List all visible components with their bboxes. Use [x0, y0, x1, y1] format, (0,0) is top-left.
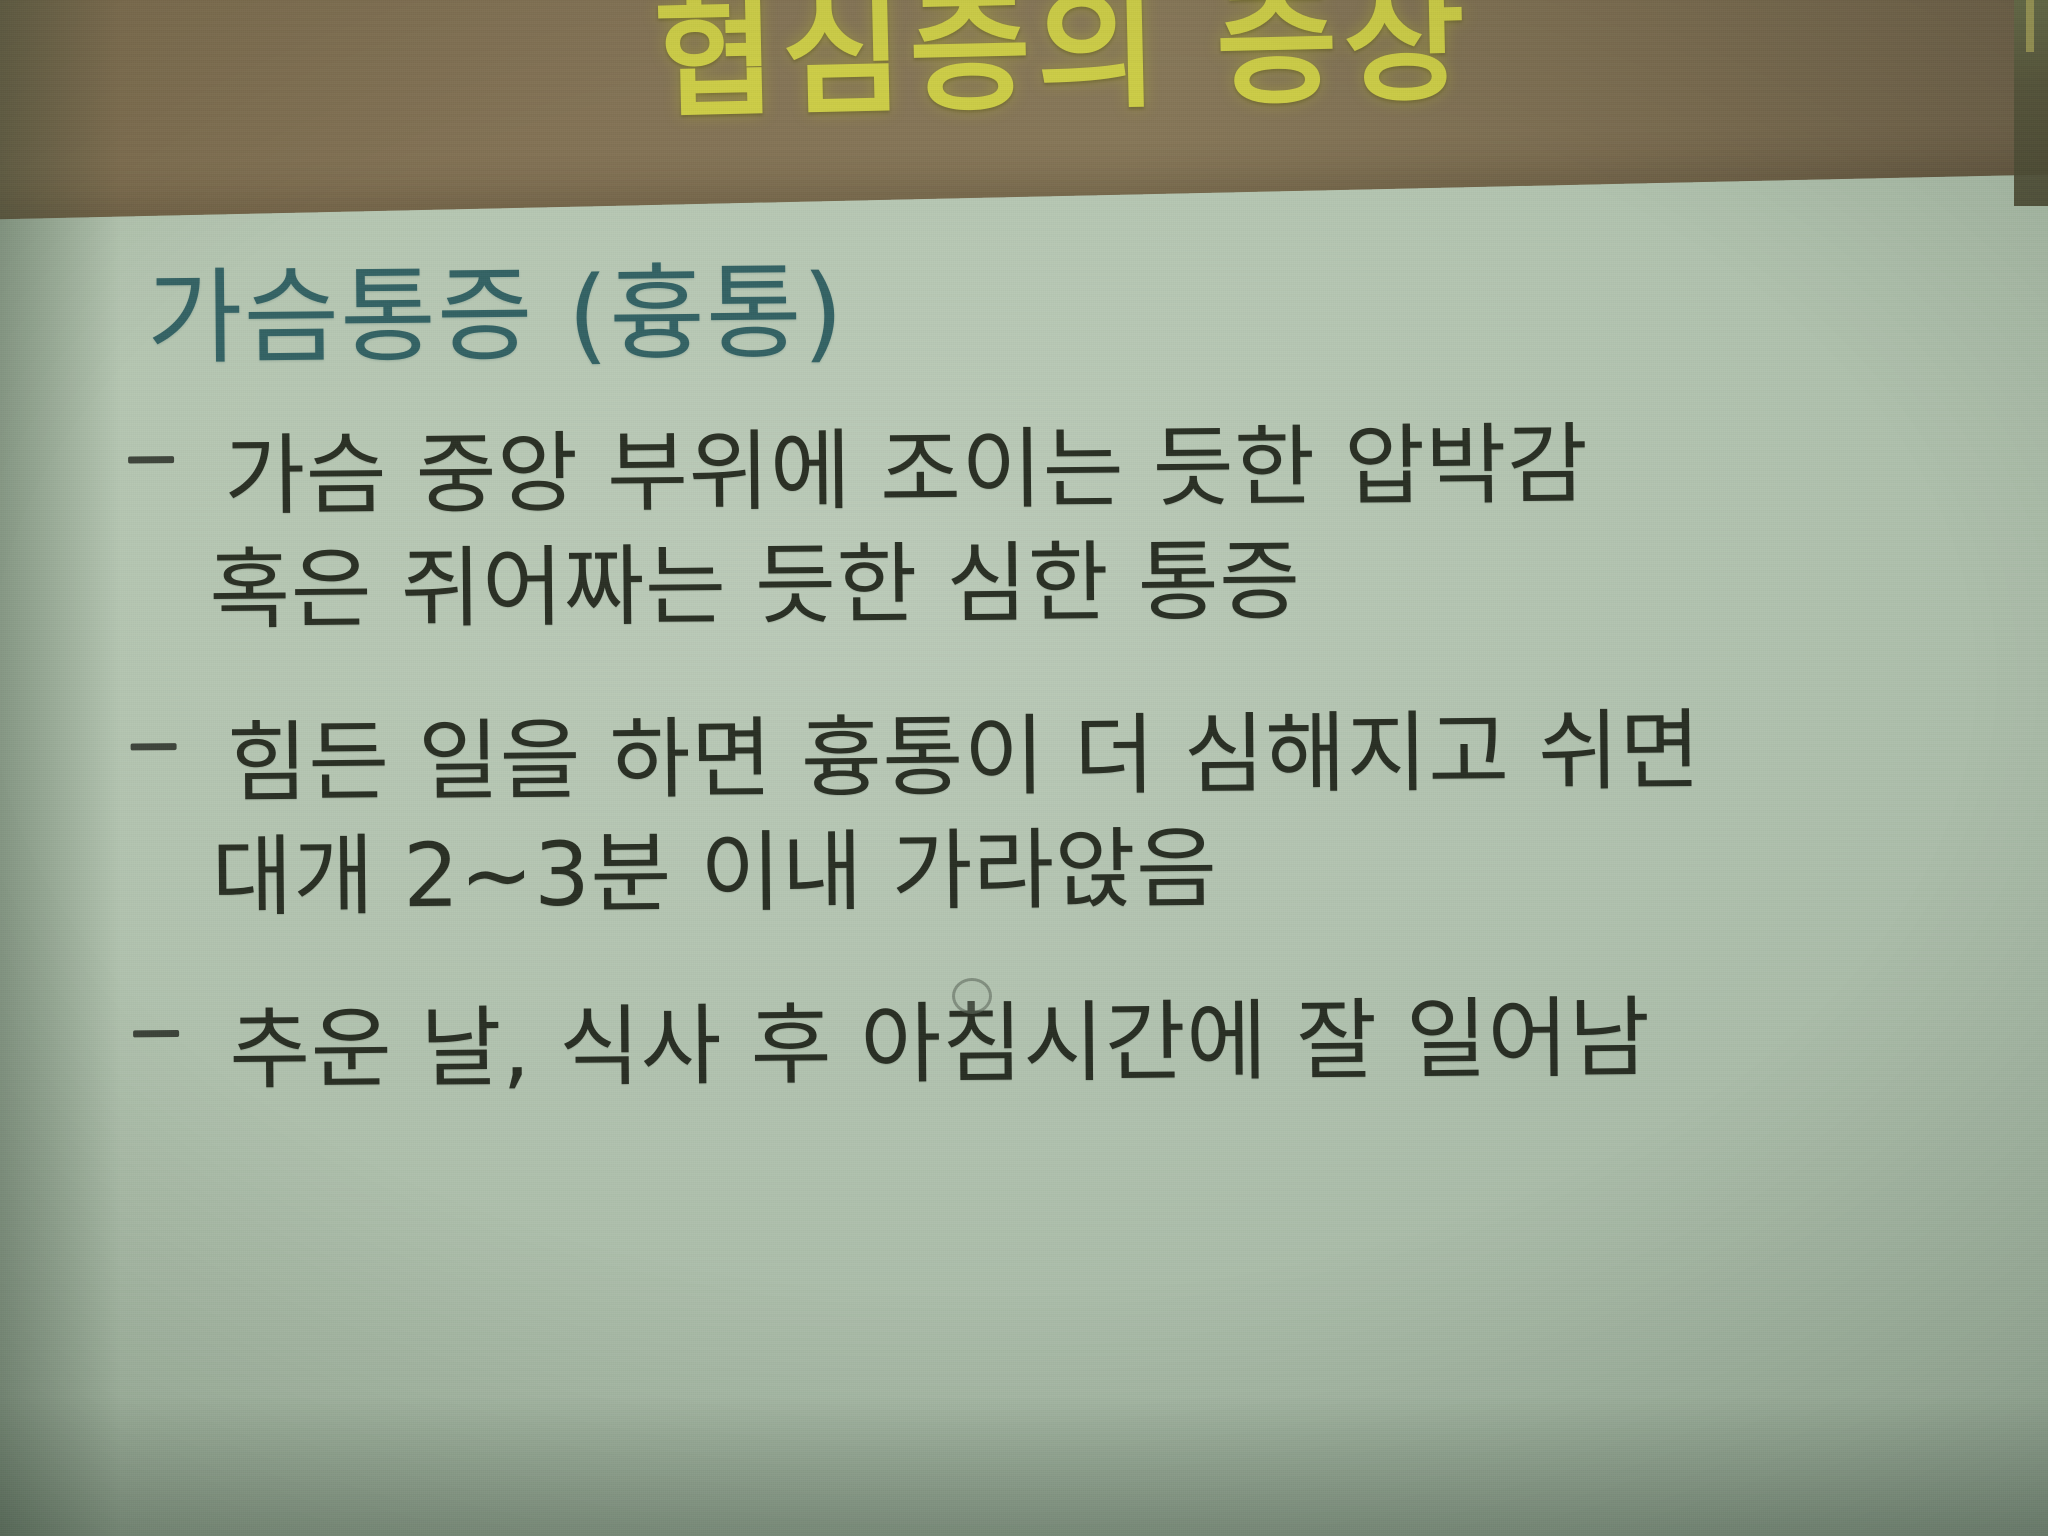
- section-heading: 가슴통증 (흉통): [146, 256, 844, 374]
- bullet-list: 가슴 중앙 부위에 조이는 듯한 압박감 혹은 쥐어짜는 듯한 심한 통증 힘든…: [128, 404, 1996, 1166]
- laser-pointer-dot: [952, 978, 992, 1014]
- bullet-dash-icon: [128, 456, 174, 463]
- bullet-line: 힘든 일을 하면 흉통이 더 심해지고 쉬면: [226, 691, 1993, 821]
- bullet-item: 힘든 일을 하면 흉통이 더 심해지고 쉬면 대개 2~3분 이내 가라앉음: [130, 691, 1994, 936]
- bullet-text: 추운 날, 식사 후 아침시간에 잘 일어남: [133, 978, 1996, 1109]
- bullet-text: 가슴 중앙 부위에 조이는 듯한 압박감 혹은 쥐어짜는 듯한 심한 통증: [128, 404, 1992, 649]
- bullet-dash-icon: [131, 743, 177, 750]
- bullet-item: 가슴 중앙 부위에 조이는 듯한 압박감 혹은 쥐어짜는 듯한 심한 통증: [128, 404, 1992, 649]
- slide-body: 가슴통증 (흉통) 가슴 중앙 부위에 조이는 듯한 압박감 혹은 쥐어짜는 듯…: [0, 204, 2048, 1536]
- bullet-line: 추운 날, 식사 후 아침시간에 잘 일어남: [229, 978, 1996, 1108]
- bullet-line: 대개 2~3분 이내 가라앉음: [211, 805, 1994, 935]
- bullet-line: 가슴 중앙 부위에 조이는 듯한 압박감: [224, 404, 1991, 534]
- bullet-dash-icon: [133, 1030, 179, 1037]
- projected-slide-photo: 협심증의 증상 가슴통증 (흉통) 가슴 중앙 부위에 조이는 듯한 압박감 혹…: [0, 0, 2048, 1536]
- bullet-text: 힘든 일을 하면 흉통이 더 심해지고 쉬면 대개 2~3분 이내 가라앉음: [130, 691, 1994, 936]
- projection-edge-highlight: [2026, 0, 2034, 52]
- bullet-line: 혹은 쥐어짜는 듯한 심한 통증: [209, 519, 1992, 649]
- bullet-item: 추운 날, 식사 후 아침시간에 잘 일어남: [133, 978, 1996, 1109]
